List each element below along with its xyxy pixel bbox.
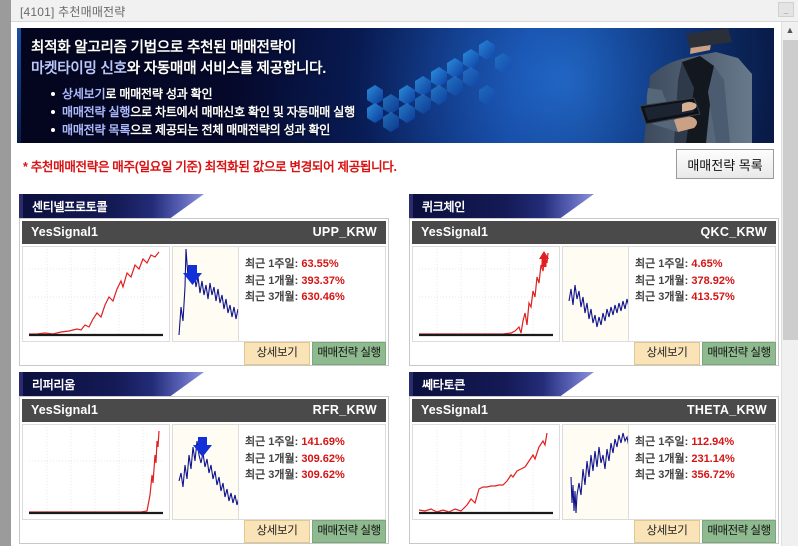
card-charts: 최근 1주일:141.69% 최근 1개월:309.62% 최근 3개월:309…: [22, 424, 386, 520]
strategy-card: 퀴크체인 YesSignal1 QKC_KRW: [409, 194, 779, 366]
card-title-bar: [409, 372, 413, 396]
stat-week-value: 141.69%: [301, 436, 344, 448]
stat-quarter: 최근 3개월:630.46%: [245, 289, 379, 306]
execute-strategy-button[interactable]: 매매전략 실행: [702, 342, 776, 365]
application-window: [4101] 추천매매전략 _ ▲: [0, 0, 798, 546]
stat-month-label: 최근 1개월:: [245, 453, 298, 465]
card-title-bar: [19, 372, 23, 396]
bullet-dot-icon: [51, 128, 55, 132]
strategy-card: 리퍼리움 YesSignal1 RFR_KRW: [19, 372, 389, 544]
stat-week-label: 최근 1주일:: [635, 258, 688, 270]
symbol-name: THETA_KRW: [687, 403, 767, 417]
stat-month: 최근 1개월:393.37%: [245, 273, 379, 290]
execute-strategy-button[interactable]: 매매전략 실행: [312, 520, 386, 543]
symbol-name: QKC_KRW: [701, 225, 767, 239]
stat-month-label: 최근 1개월:: [635, 275, 688, 287]
banner-accent-bar: [17, 28, 21, 143]
stat-quarter-value: 309.62%: [301, 469, 344, 481]
stat-month: 최근 1개월:231.14%: [635, 451, 769, 468]
stat-week-value: 63.55%: [301, 258, 338, 270]
execute-strategy-button[interactable]: 매매전략 실행: [702, 520, 776, 543]
banner-headline-line1: 최적화 알고리즘 기법으로 추천된 매매전략이: [31, 40, 296, 56]
stat-quarter-label: 최근 3개월:: [635, 469, 688, 481]
card-charts: 최근 1주일:63.55% 최근 1개월:393.37% 최근 3개월:630.…: [22, 246, 386, 342]
stat-week: 최근 1주일:4.65%: [635, 256, 769, 273]
banner-bullet-item: 매매전략 실행으로 차트에서 매매신호 확인 및 자동매매 실행: [51, 103, 355, 121]
card-body: YesSignal1 QKC_KRW: [409, 218, 779, 366]
stat-month-label: 최근 1개월:: [635, 453, 688, 465]
stat-week-label: 최근 1주일:: [245, 436, 298, 448]
banner-bullet-list: 상세보기로 매매전략 성과 확인 매매전략 실행으로 차트에서 매매신호 확인 …: [51, 85, 355, 139]
vertical-scrollbar[interactable]: ▲: [781, 22, 798, 546]
cumulative-return-chart[interactable]: [412, 424, 560, 520]
card-signal-strip: YesSignal1 RFR_KRW: [22, 399, 386, 422]
banner-bullet-item: 매매전략 목록으로 제공되는 전체 매매전략의 성과 확인: [51, 121, 355, 139]
cumulative-return-chart[interactable]: [22, 424, 170, 520]
stat-month-value: 231.14%: [691, 453, 734, 465]
banner-bullet-item: 상세보기로 매매전략 성과 확인: [51, 85, 355, 103]
stat-quarter: 최근 3개월:413.57%: [635, 289, 769, 306]
stat-quarter-value: 630.46%: [301, 291, 344, 303]
card-coin-name: 쎄타토큰: [422, 376, 465, 393]
execute-strategy-button[interactable]: 매매전략 실행: [312, 342, 386, 365]
bullet-lead: 매매전략 실행: [62, 105, 130, 119]
stat-month-value: 378.92%: [691, 275, 734, 287]
detail-view-button[interactable]: 상세보기: [634, 520, 700, 543]
cumulative-return-chart[interactable]: [22, 246, 170, 342]
stat-quarter-value: 413.57%: [691, 291, 734, 303]
card-signal-strip: YesSignal1 QKC_KRW: [412, 221, 776, 244]
card-actions: 상세보기 매매전략 실행: [22, 342, 386, 365]
card-signal-strip: YesSignal1 THETA_KRW: [412, 399, 776, 422]
signal-name: YesSignal1: [31, 403, 98, 417]
card-stats: 최근 1주일:112.94% 최근 1개월:231.14% 최근 3개월:356…: [710, 424, 776, 520]
page-title: [4101] 추천매매전략: [20, 3, 126, 20]
stat-week-value: 112.94%: [691, 436, 734, 448]
symbol-name: UPP_KRW: [313, 225, 377, 239]
cumulative-return-chart[interactable]: [412, 246, 560, 342]
card-stats: 최근 1주일:63.55% 최근 1개월:393.37% 최근 3개월:630.…: [320, 246, 386, 342]
stat-month: 최근 1개월:309.62%: [245, 451, 379, 468]
card-coin-name: 센티넬프로토콜: [32, 198, 107, 215]
stat-week: 최근 1주일:141.69%: [245, 434, 379, 451]
card-title-banner: 퀴크체인: [409, 194, 594, 218]
notice-text: * 추천매매전략은 매주(일요일 기준) 최적화된 값으로 변경되어 제공됩니다…: [23, 156, 397, 175]
stat-week: 최근 1주일:112.94%: [635, 434, 769, 451]
card-coin-name: 퀴크체인: [422, 198, 465, 215]
bullet-dot-icon: [51, 110, 55, 114]
banner-headline-line2-rest: 와 자동매매 서비스를 제공합니다.: [127, 61, 326, 77]
card-title-bar: [19, 194, 23, 218]
stat-month-value: 393.37%: [301, 275, 344, 287]
strategy-card: 센티넬프로토콜 YesSignal1 UPP_KRW: [19, 194, 389, 366]
detail-view-button[interactable]: 상세보기: [634, 342, 700, 365]
stat-month-label: 최근 1개월:: [245, 275, 298, 287]
window-grip: [0, 0, 11, 22]
bullet-lead: 매매전략 목록: [62, 123, 130, 137]
window-titlebar: [4101] 추천매매전략 _: [0, 0, 798, 22]
banner-headline: 최적화 알고리즘 기법으로 추천된 매매전략이 마켓타이밍 신호와 자동매매 서…: [31, 38, 326, 80]
businessman-tablet-image: [582, 28, 752, 143]
content-area: 최적화 알고리즘 기법으로 추천된 매매전략이 마켓타이밍 신호와 자동매매 서…: [11, 22, 781, 546]
bullet-rest: 으로 차트에서 매매신호 확인 및 자동매매 실행: [130, 105, 355, 119]
bullet-rest: 로 매매전략 성과 확인: [105, 87, 212, 101]
card-title-banner: 센티넬프로토콜: [19, 194, 204, 218]
stat-week-value: 4.65%: [691, 258, 722, 270]
detail-view-button[interactable]: 상세보기: [244, 520, 310, 543]
stat-quarter-label: 최근 3개월:: [635, 291, 688, 303]
stat-month: 최근 1개월:378.92%: [635, 273, 769, 290]
card-stats: 최근 1주일:141.69% 최근 1개월:309.62% 최근 3개월:309…: [320, 424, 386, 520]
card-charts: 최근 1주일:112.94% 최근 1개월:231.14% 최근 3개월:356…: [412, 424, 776, 520]
minimize-button[interactable]: _: [778, 2, 794, 17]
card-signal-strip: YesSignal1 UPP_KRW: [22, 221, 386, 244]
scroll-up-icon[interactable]: ▲: [782, 22, 798, 39]
card-actions: 상세보기 매매전략 실행: [412, 520, 776, 543]
strategy-card: 쎄타토큰 YesSignal1 THETA_KRW: [409, 372, 779, 544]
stat-quarter-label: 최근 3개월:: [245, 291, 298, 303]
left-gutter: [0, 22, 11, 546]
signal-name: YesSignal1: [421, 225, 488, 239]
stat-quarter-value: 356.72%: [691, 469, 734, 481]
stat-week-label: 최근 1주일:: [245, 258, 298, 270]
card-body: YesSignal1 RFR_KRW: [19, 396, 389, 544]
stat-quarter: 최근 3개월:309.62%: [245, 467, 379, 484]
stat-week-label: 최근 1주일:: [635, 436, 688, 448]
card-actions: 상세보기 매매전략 실행: [22, 520, 386, 543]
card-title-banner: 리퍼리움: [19, 372, 204, 396]
card-body: YesSignal1 THETA_KRW: [409, 396, 779, 544]
signal-name: YesSignal1: [31, 225, 98, 239]
card-stats: 최근 1주일:4.65% 최근 1개월:378.92% 최근 3개월:413.5…: [710, 246, 776, 342]
card-title-bar: [409, 194, 413, 218]
stat-week: 최근 1주일:63.55%: [245, 256, 379, 273]
symbol-name: RFR_KRW: [313, 403, 377, 417]
card-title-banner: 쎄타토큰: [409, 372, 594, 396]
card-actions: 상세보기 매매전략 실행: [412, 342, 776, 365]
card-body: YesSignal1 UPP_KRW: [19, 218, 389, 366]
stat-quarter-label: 최근 3개월:: [245, 469, 298, 481]
banner-headline-line2-lead: 마켓타이밍 신호: [31, 61, 127, 77]
stat-quarter: 최근 3개월:356.72%: [635, 467, 769, 484]
bullet-lead: 상세보기: [62, 87, 105, 101]
bullet-dot-icon: [51, 92, 55, 96]
scrollbar-thumb[interactable]: [783, 40, 798, 340]
card-charts: 최근 1주일:4.65% 최근 1개월:378.92% 최근 3개월:413.5…: [412, 246, 776, 342]
detail-view-button[interactable]: 상세보기: [244, 342, 310, 365]
card-coin-name: 리퍼리움: [32, 376, 75, 393]
strategy-list-button[interactable]: 매매전략 목록: [676, 149, 774, 179]
stat-month-value: 309.62%: [301, 453, 344, 465]
bullet-rest: 으로 제공되는 전체 매매전략의 성과 확인: [130, 123, 330, 137]
signal-name: YesSignal1: [421, 403, 488, 417]
promo-banner: 최적화 알고리즘 기법으로 추천된 매매전략이 마켓타이밍 신호와 자동매매 서…: [17, 28, 774, 143]
